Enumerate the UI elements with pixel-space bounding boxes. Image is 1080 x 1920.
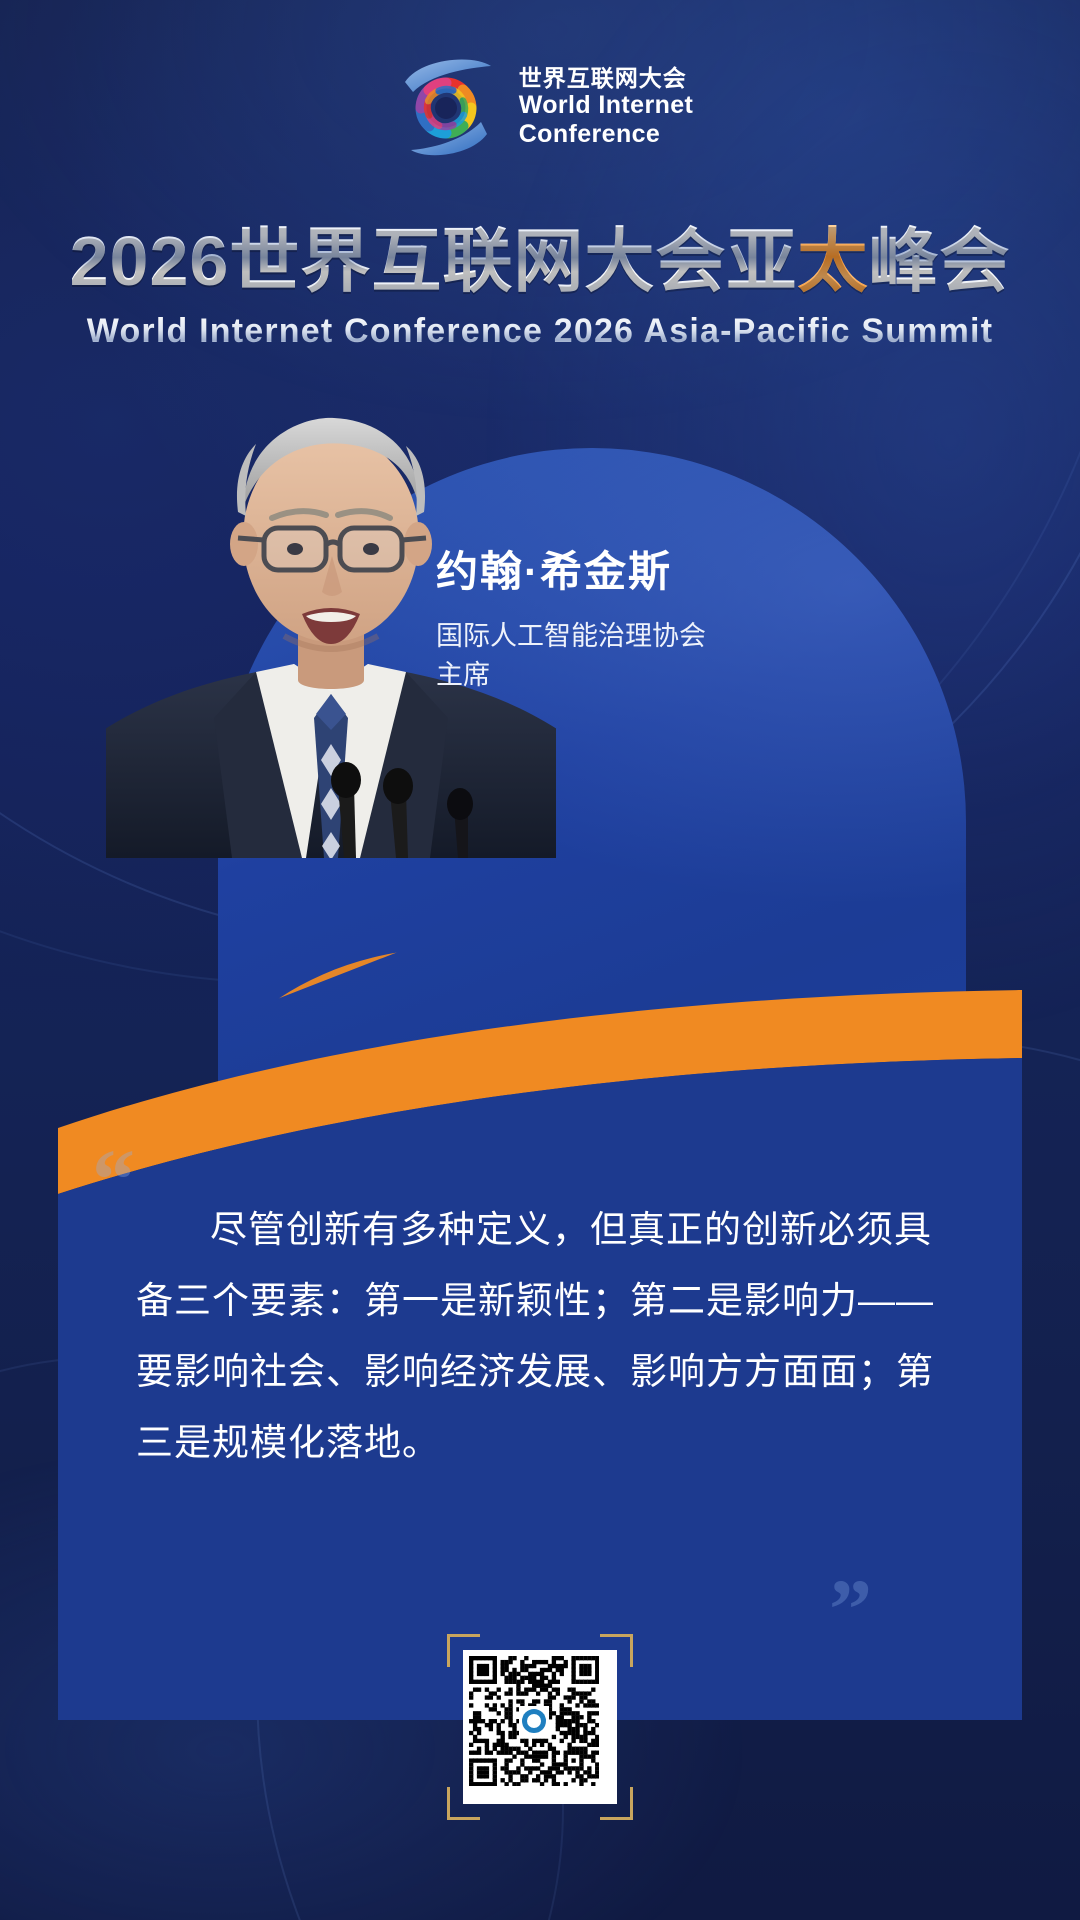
org-name-cn: 世界互联网大会: [519, 65, 694, 92]
quote-text: 尽管创新有多种定义，但真正的创新必须具备三个要素：第一是新颖性；第二是影响力——…: [58, 1148, 1022, 1478]
org-name-en-line1: World Internet: [519, 91, 694, 120]
wic-ring-logo-icon: [387, 52, 505, 162]
qr-corner-top-right: [600, 1634, 633, 1667]
org-name-en-line2: Conference: [519, 120, 694, 149]
title-cn-highlight: 太: [797, 222, 868, 300]
header-logo-text: 世界互联网大会 World Internet Conference: [519, 65, 694, 150]
quote-open-mark: “: [92, 1136, 135, 1222]
speaker-name: 约翰·希金斯: [436, 538, 706, 599]
title-cn-prefix: 2026世界互联网大会亚: [70, 222, 798, 300]
speaker-role-line2: 主席: [436, 656, 706, 695]
speaker-info: 约翰·希金斯 国际人工智能治理协会 主席: [436, 538, 706, 695]
title-en: World Internet Conference 2026 Asia-Paci…: [0, 312, 1080, 351]
main-title-block: 2026世界互联网大会亚太峰会 World Internet Conferenc…: [0, 205, 1080, 351]
qr-corner-bottom-left: [447, 1787, 480, 1820]
title-cn-suffix: 峰会: [868, 222, 1010, 300]
qr-corner-bottom-right: [600, 1787, 633, 1820]
qr-section: [0, 1634, 1080, 1820]
speaker-role-line1: 国际人工智能治理协会: [436, 617, 706, 656]
poster-root: 世界互联网大会 World Internet Conference 2026世界…: [0, 0, 1080, 1920]
qr-code[interactable]: [463, 1650, 617, 1804]
qr-frame: [447, 1634, 633, 1820]
title-cn: 2026世界互联网大会亚太峰会: [70, 205, 1011, 306]
header-logo-block: 世界互联网大会 World Internet Conference: [0, 52, 1080, 162]
qr-corner-top-left: [447, 1634, 480, 1667]
speaker-card: 约翰·希金斯 国际人工智能治理协会 主席 “ 尽管创新有多种定义，但真正的创新必…: [58, 448, 1022, 1720]
quote-block: “ 尽管创新有多种定义，但真正的创新必须具备三个要素：第一是新颖性；第二是影响力…: [58, 1148, 1022, 1478]
